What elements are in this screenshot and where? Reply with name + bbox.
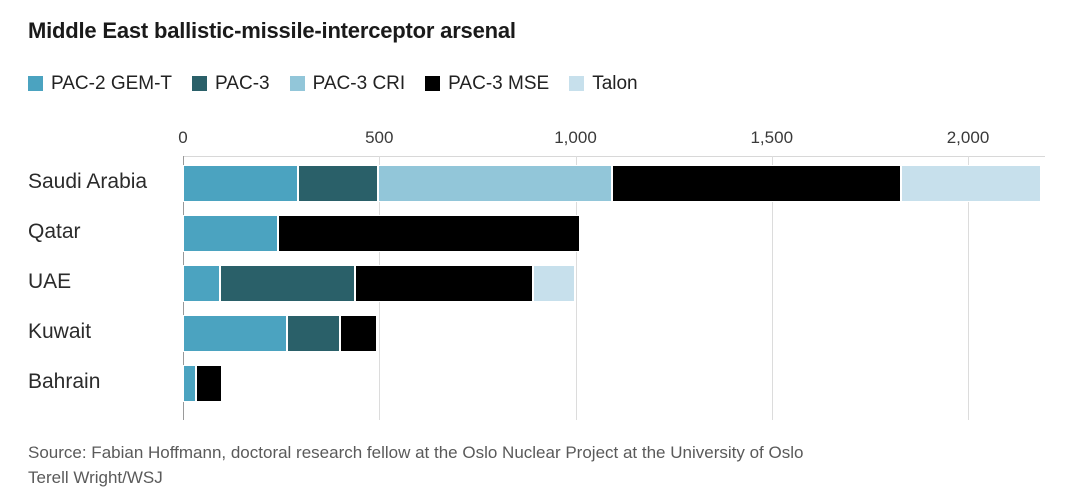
bar-rows: Saudi ArabiaQatarUAEKuwaitBahrain xyxy=(0,157,1080,420)
chart-title: Middle East ballistic-missile-intercepto… xyxy=(28,18,516,44)
stacked-bar xyxy=(183,265,575,302)
legend-item-pac-3-cri[interactable]: PAC-3 CRI xyxy=(290,74,406,93)
x-tick-label: 2,000 xyxy=(947,128,990,148)
legend-swatch-icon xyxy=(28,76,43,91)
bar-segment-pac-2-gem-t[interactable] xyxy=(183,315,287,352)
bar-segment-pac-3-mse[interactable] xyxy=(340,315,377,352)
legend-item-label: Talon xyxy=(592,74,637,93)
source-note: Source: Fabian Hoffmann, doctoral resear… xyxy=(28,440,1028,490)
stacked-bar xyxy=(183,165,1041,202)
bar-segment-talon[interactable] xyxy=(533,265,575,302)
bar-segment-pac-3-mse[interactable] xyxy=(278,215,580,252)
bar-segment-pac-3[interactable] xyxy=(298,165,378,202)
plot-area: 05001,0001,5002,000 Saudi ArabiaQatarUAE… xyxy=(0,128,1080,420)
legend-item-pac-3-mse[interactable]: PAC-3 MSE xyxy=(425,74,549,93)
source-line-2: Terell Wright/WSJ xyxy=(28,465,1028,490)
bar-segment-pac-3-mse[interactable] xyxy=(612,165,901,202)
stacked-bar xyxy=(183,365,222,402)
legend-item-pac-2-gem-t[interactable]: PAC-2 GEM-T xyxy=(28,74,172,93)
bar-segment-pac-3[interactable] xyxy=(220,265,355,302)
bar-row: Saudi Arabia xyxy=(0,157,1080,207)
legend-swatch-icon xyxy=(425,76,440,91)
bar-segment-talon[interactable] xyxy=(901,165,1041,202)
stacked-bar xyxy=(183,315,377,352)
bar-segment-pac-3-mse[interactable] xyxy=(196,365,222,402)
bar-row: Qatar xyxy=(0,207,1080,257)
bar-segment-pac-2-gem-t[interactable] xyxy=(183,215,278,252)
bar-row: Bahrain xyxy=(0,357,1080,407)
legend-item-talon[interactable]: Talon xyxy=(569,74,637,93)
legend-swatch-icon xyxy=(569,76,584,91)
bar-segment-pac-2-gem-t[interactable] xyxy=(183,365,196,402)
x-tick-label: 1,000 xyxy=(554,128,597,148)
bar-segment-pac-3-cri[interactable] xyxy=(378,165,612,202)
chart-container: Middle East ballistic-missile-intercepto… xyxy=(0,0,1080,499)
legend-item-label: PAC-3 CRI xyxy=(313,74,406,93)
bar-segment-pac-3[interactable] xyxy=(287,315,340,352)
source-line-1: Source: Fabian Hoffmann, doctoral resear… xyxy=(28,440,1028,465)
x-tick-label: 500 xyxy=(365,128,393,148)
category-label-uae: UAE xyxy=(28,257,173,307)
bar-segment-pac-3-mse[interactable] xyxy=(355,265,533,302)
bar-row: Kuwait xyxy=(0,307,1080,357)
category-label-qatar: Qatar xyxy=(28,207,173,257)
bar-segment-pac-2-gem-t[interactable] xyxy=(183,265,220,302)
bar-row: UAE xyxy=(0,257,1080,307)
legend-item-pac-3[interactable]: PAC-3 xyxy=(192,74,270,93)
stacked-bar xyxy=(183,215,580,252)
category-label-bahrain: Bahrain xyxy=(28,357,173,407)
chart-legend: PAC-2 GEM-TPAC-3PAC-3 CRIPAC-3 MSETalon xyxy=(28,74,658,93)
category-label-kuwait: Kuwait xyxy=(28,307,173,357)
legend-item-label: PAC-3 xyxy=(215,74,270,93)
x-tick-label: 1,500 xyxy=(750,128,793,148)
legend-item-label: PAC-3 MSE xyxy=(448,74,549,93)
x-tick-label: 0 xyxy=(178,128,187,148)
legend-swatch-icon xyxy=(192,76,207,91)
category-label-saudi-arabia: Saudi Arabia xyxy=(28,157,173,207)
legend-swatch-icon xyxy=(290,76,305,91)
legend-item-label: PAC-2 GEM-T xyxy=(51,74,172,93)
bar-segment-pac-2-gem-t[interactable] xyxy=(183,165,298,202)
